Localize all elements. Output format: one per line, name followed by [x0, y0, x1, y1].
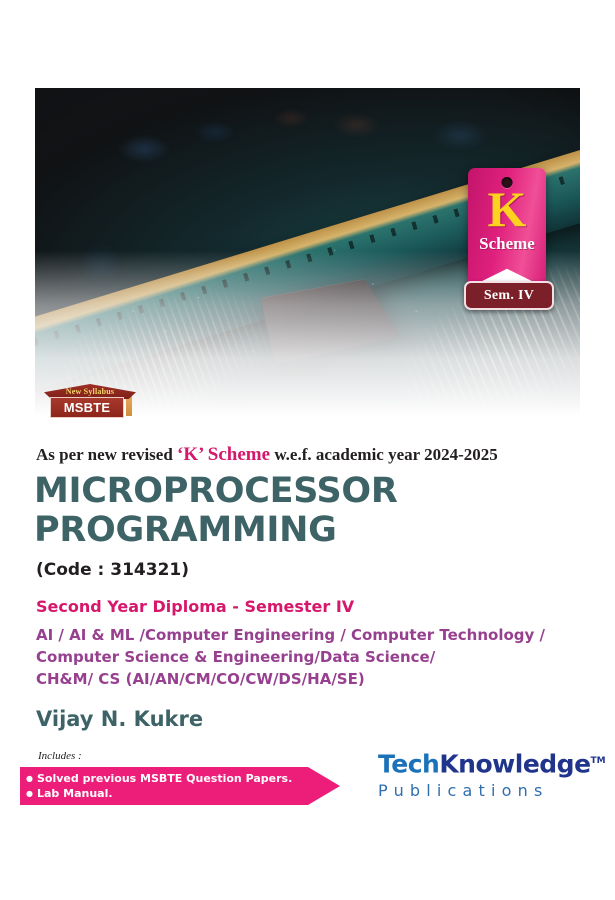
book-cover: K Scheme Sem. IV New Syllabus MSBTE As p…: [0, 0, 615, 900]
k-scheme-letter: K: [468, 183, 546, 235]
book-title-line-2: PROGRAMMING: [34, 511, 574, 550]
trademark-icon: TM: [591, 756, 606, 766]
k-scheme-badge: K Scheme: [468, 168, 546, 288]
msbte-label: MSBTE: [64, 400, 111, 415]
scheme-line-accent: ‘K’ Scheme: [177, 444, 270, 465]
list-item: Solved previous MSBTE Question Papers.: [26, 771, 326, 786]
branch-line-3: CH&M/ CS (AI/AN/CM/CO/CW/DS/HA/SE): [36, 668, 581, 690]
author-name: Vijay N. Kukre: [36, 707, 203, 731]
msbte-new-syllabus-badge: New Syllabus MSBTE: [44, 384, 136, 416]
publisher-name-tech: Tech: [378, 749, 439, 778]
branch-line-2: Computer Science & Engineering/Data Scie…: [36, 646, 581, 668]
publisher-subtitle: Publications: [378, 781, 578, 800]
publisher-logo: TechKnowledgeTM Publications: [378, 748, 578, 800]
includes-list: Solved previous MSBTE Question Papers. L…: [26, 771, 326, 801]
publisher-name-knowledge: Knowledge: [439, 749, 590, 778]
branch-list: AI / AI & ML /Computer Engineering / Com…: [36, 624, 581, 690]
scheme-line: As per new revised ‘K’ Scheme w.e.f. aca…: [36, 444, 498, 466]
branch-line-1: AI / AI & ML /Computer Engineering / Com…: [36, 624, 581, 646]
msbte-new-syllabus-label: New Syllabus: [44, 387, 136, 396]
scheme-line-suffix: w.e.f. academic year 2024-2025: [270, 445, 498, 464]
semester-badge: Sem. IV: [464, 281, 554, 310]
list-item: Lab Manual.: [26, 786, 326, 801]
semester-badge-label: Sem. IV: [484, 288, 534, 304]
msbte-ribbon-tail: [126, 396, 132, 416]
scheme-line-prefix: As per new revised: [36, 445, 177, 464]
publisher-name: TechKnowledgeTM: [378, 748, 578, 777]
msbte-banner-body: MSBTE: [50, 397, 124, 418]
k-scheme-word: Scheme: [468, 234, 546, 254]
course-semester: Second Year Diploma - Semester IV: [36, 597, 354, 616]
book-title-line-1: MICROPROCESSOR: [34, 472, 574, 511]
includes-label: Includes :: [38, 750, 82, 762]
page-title: MICROPROCESSOR PROGRAMMING: [34, 472, 574, 550]
subject-code: (Code : 314321): [36, 560, 189, 580]
